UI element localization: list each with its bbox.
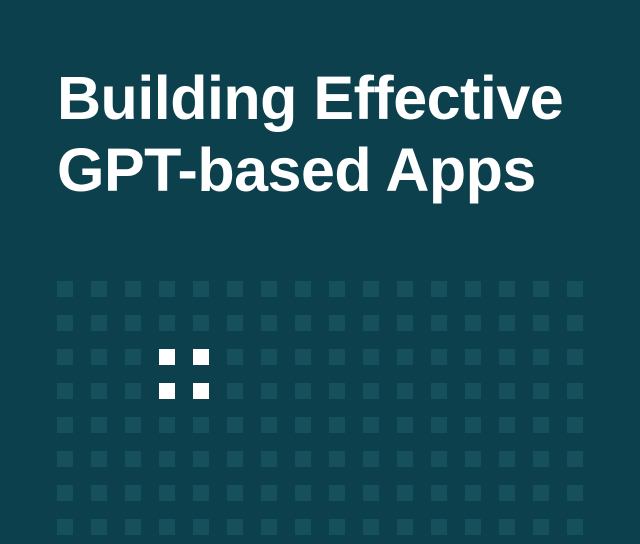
grid-cell [91, 519, 107, 535]
grid-cell [465, 383, 481, 399]
grid-cell [227, 315, 243, 331]
grid-cell [159, 281, 175, 297]
grid-cell [499, 519, 515, 535]
grid-cell [193, 451, 209, 467]
title-line-1: Building Effective [57, 62, 617, 134]
grid-cell [329, 519, 345, 535]
grid-cell [159, 315, 175, 331]
grid-cell [261, 281, 277, 297]
grid-cell [567, 451, 583, 467]
grid-cell [193, 519, 209, 535]
grid-cell [261, 315, 277, 331]
grid-cell [363, 485, 379, 501]
grid-cell [125, 485, 141, 501]
grid-cell [125, 281, 141, 297]
grid-cell [91, 315, 107, 331]
grid-cell [329, 315, 345, 331]
grid-cell [57, 281, 73, 297]
grid-cell [431, 519, 447, 535]
grid-cell [567, 349, 583, 365]
grid-cell [91, 417, 107, 433]
grid-cell [295, 281, 311, 297]
page-title: Building Effective GPT-based Apps [57, 62, 617, 206]
grid-cell [261, 451, 277, 467]
grid-cell [193, 315, 209, 331]
grid-cell-highlight [159, 349, 175, 365]
grid-cell [465, 519, 481, 535]
grid-cell [329, 451, 345, 467]
grid-cell [261, 383, 277, 399]
grid-cell [329, 383, 345, 399]
grid-cell [193, 485, 209, 501]
grid-cell [159, 519, 175, 535]
grid-cell [533, 383, 549, 399]
grid-cell [499, 383, 515, 399]
grid-cell-highlight [193, 383, 209, 399]
grid-cell-highlight [159, 383, 175, 399]
grid-cell [533, 315, 549, 331]
grid-cell [125, 417, 141, 433]
grid-cell [227, 383, 243, 399]
grid-cell [227, 485, 243, 501]
grid-cell [261, 519, 277, 535]
grid-cell [431, 485, 447, 501]
grid-cell [91, 485, 107, 501]
grid-cell [533, 451, 549, 467]
grid-cell [125, 383, 141, 399]
grid-cell [567, 281, 583, 297]
grid-cell [295, 383, 311, 399]
grid-cell [567, 383, 583, 399]
grid-cell [363, 519, 379, 535]
grid-cell [295, 417, 311, 433]
grid-cell [397, 349, 413, 365]
grid-cell [465, 349, 481, 365]
grid-cell [57, 349, 73, 365]
grid-cell [465, 451, 481, 467]
grid-cell [227, 349, 243, 365]
grid-cell [159, 417, 175, 433]
grid-cell [57, 519, 73, 535]
grid-cell [159, 485, 175, 501]
grid-cell [397, 281, 413, 297]
grid-cell [499, 417, 515, 433]
grid-cell [261, 485, 277, 501]
grid-cell [431, 349, 447, 365]
grid-cell [397, 315, 413, 331]
grid-cell [57, 485, 73, 501]
grid-cell [227, 417, 243, 433]
grid-cell [57, 417, 73, 433]
grid-cell [91, 451, 107, 467]
grid-cell [363, 281, 379, 297]
grid-cell [91, 349, 107, 365]
grid-cell [193, 417, 209, 433]
grid-cell [431, 281, 447, 297]
grid-cell [465, 315, 481, 331]
grid-cell [295, 485, 311, 501]
grid-cell [431, 315, 447, 331]
grid-cell [193, 281, 209, 297]
grid-cell [567, 485, 583, 501]
grid-cell [295, 315, 311, 331]
grid-cell [329, 417, 345, 433]
grid-cell [295, 519, 311, 535]
grid-cell [91, 383, 107, 399]
grid-cell [397, 383, 413, 399]
grid-cell [499, 349, 515, 365]
grid-cell [397, 451, 413, 467]
grid-cell [159, 451, 175, 467]
grid-cell [57, 451, 73, 467]
grid-cell [431, 451, 447, 467]
grid-cell [499, 315, 515, 331]
grid-cell [533, 417, 549, 433]
grid-cell [261, 417, 277, 433]
grid-cell [465, 417, 481, 433]
grid-cell [397, 417, 413, 433]
grid-cell [533, 281, 549, 297]
title-slide: Building Effective GPT-based Apps [0, 0, 640, 544]
grid-cell [363, 383, 379, 399]
square-dot-grid-decoration [57, 281, 583, 535]
grid-cell [397, 519, 413, 535]
grid-cell [125, 451, 141, 467]
grid-cell [567, 519, 583, 535]
grid-cell [363, 315, 379, 331]
grid-cell [227, 451, 243, 467]
grid-cell [363, 417, 379, 433]
grid-cell [499, 281, 515, 297]
grid-cell [499, 485, 515, 501]
grid-cell [363, 349, 379, 365]
grid-cell [295, 349, 311, 365]
grid-cell [533, 519, 549, 535]
grid-cell [261, 349, 277, 365]
grid-cell [91, 281, 107, 297]
grid-cell [567, 417, 583, 433]
grid-cell [125, 349, 141, 365]
grid-cell [431, 383, 447, 399]
grid-cell [57, 315, 73, 331]
grid-cell [431, 417, 447, 433]
grid-cell [227, 519, 243, 535]
grid-cell [329, 349, 345, 365]
grid-cell [499, 451, 515, 467]
grid-cell [397, 485, 413, 501]
grid-cell-highlight [193, 349, 209, 365]
title-line-2: GPT-based Apps [57, 134, 617, 206]
grid-cell [227, 281, 243, 297]
grid-cell [125, 315, 141, 331]
grid-cell [465, 485, 481, 501]
grid-cell [295, 451, 311, 467]
grid-cell [329, 485, 345, 501]
grid-cell [533, 485, 549, 501]
grid-cell [57, 383, 73, 399]
grid-cell [363, 451, 379, 467]
grid-cell [567, 315, 583, 331]
grid-cell [125, 519, 141, 535]
grid-cell [465, 281, 481, 297]
grid-cell [329, 281, 345, 297]
grid-cell [533, 349, 549, 365]
